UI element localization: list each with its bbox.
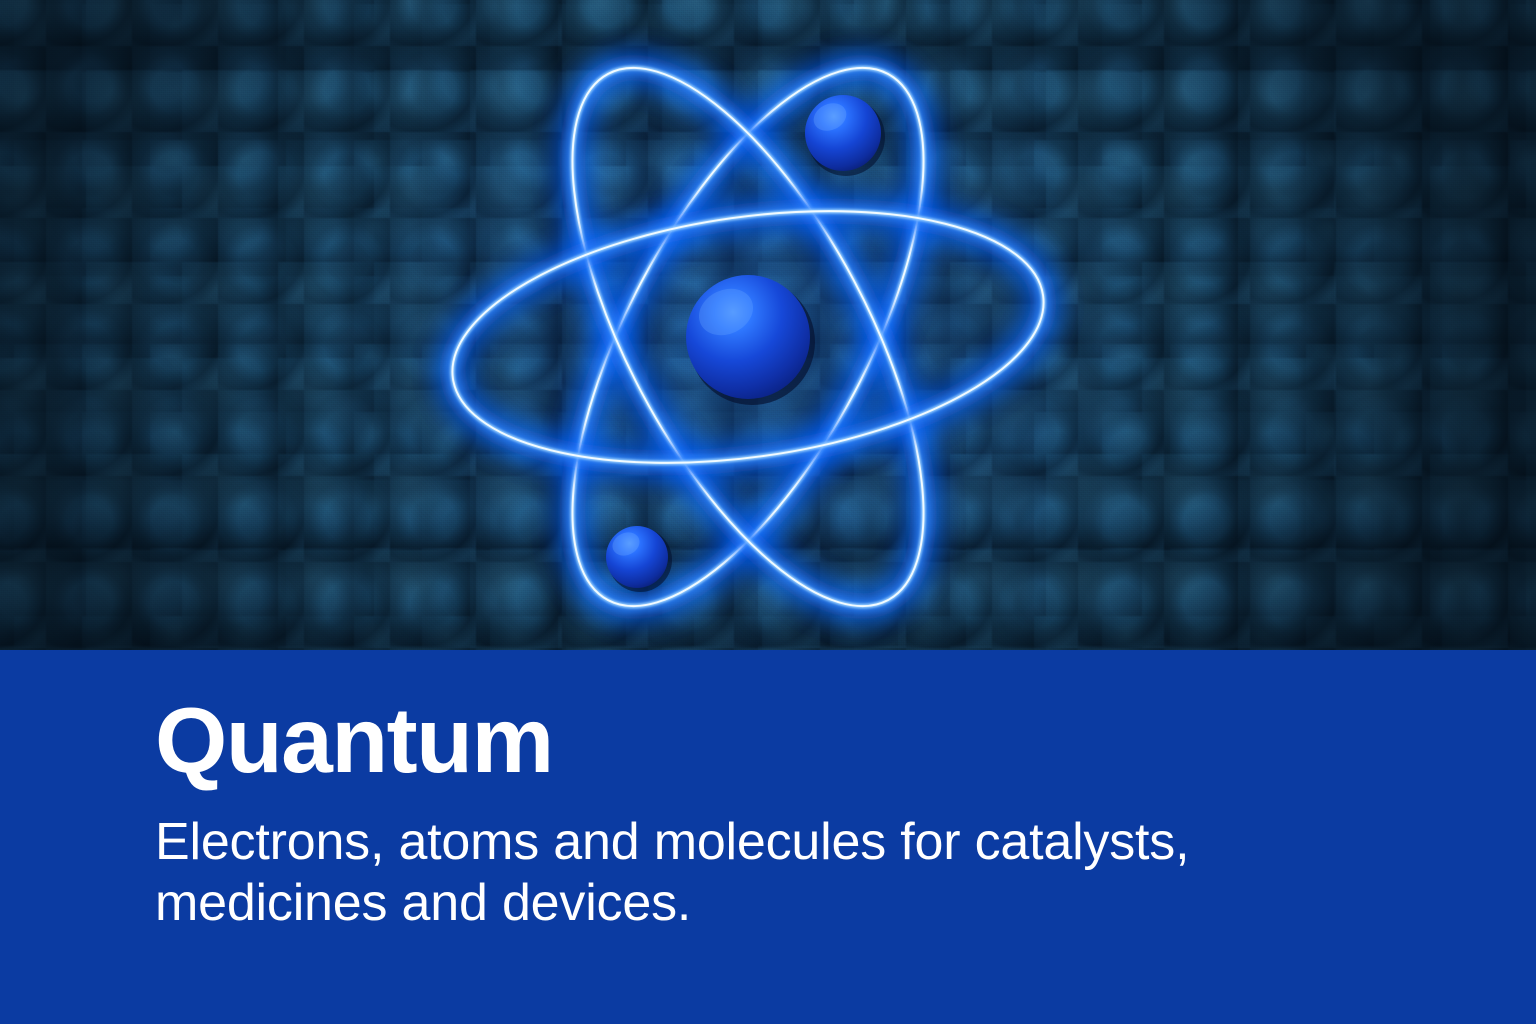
page-subtitle: Electrons, atoms and molecules for catal… (155, 812, 1355, 934)
hero-image (0, 0, 1536, 650)
atom-illustration (0, 0, 1536, 650)
theme-card: Quantum Electrons, atoms and molecules f… (0, 0, 1536, 1024)
page-title: Quantum (155, 694, 553, 787)
